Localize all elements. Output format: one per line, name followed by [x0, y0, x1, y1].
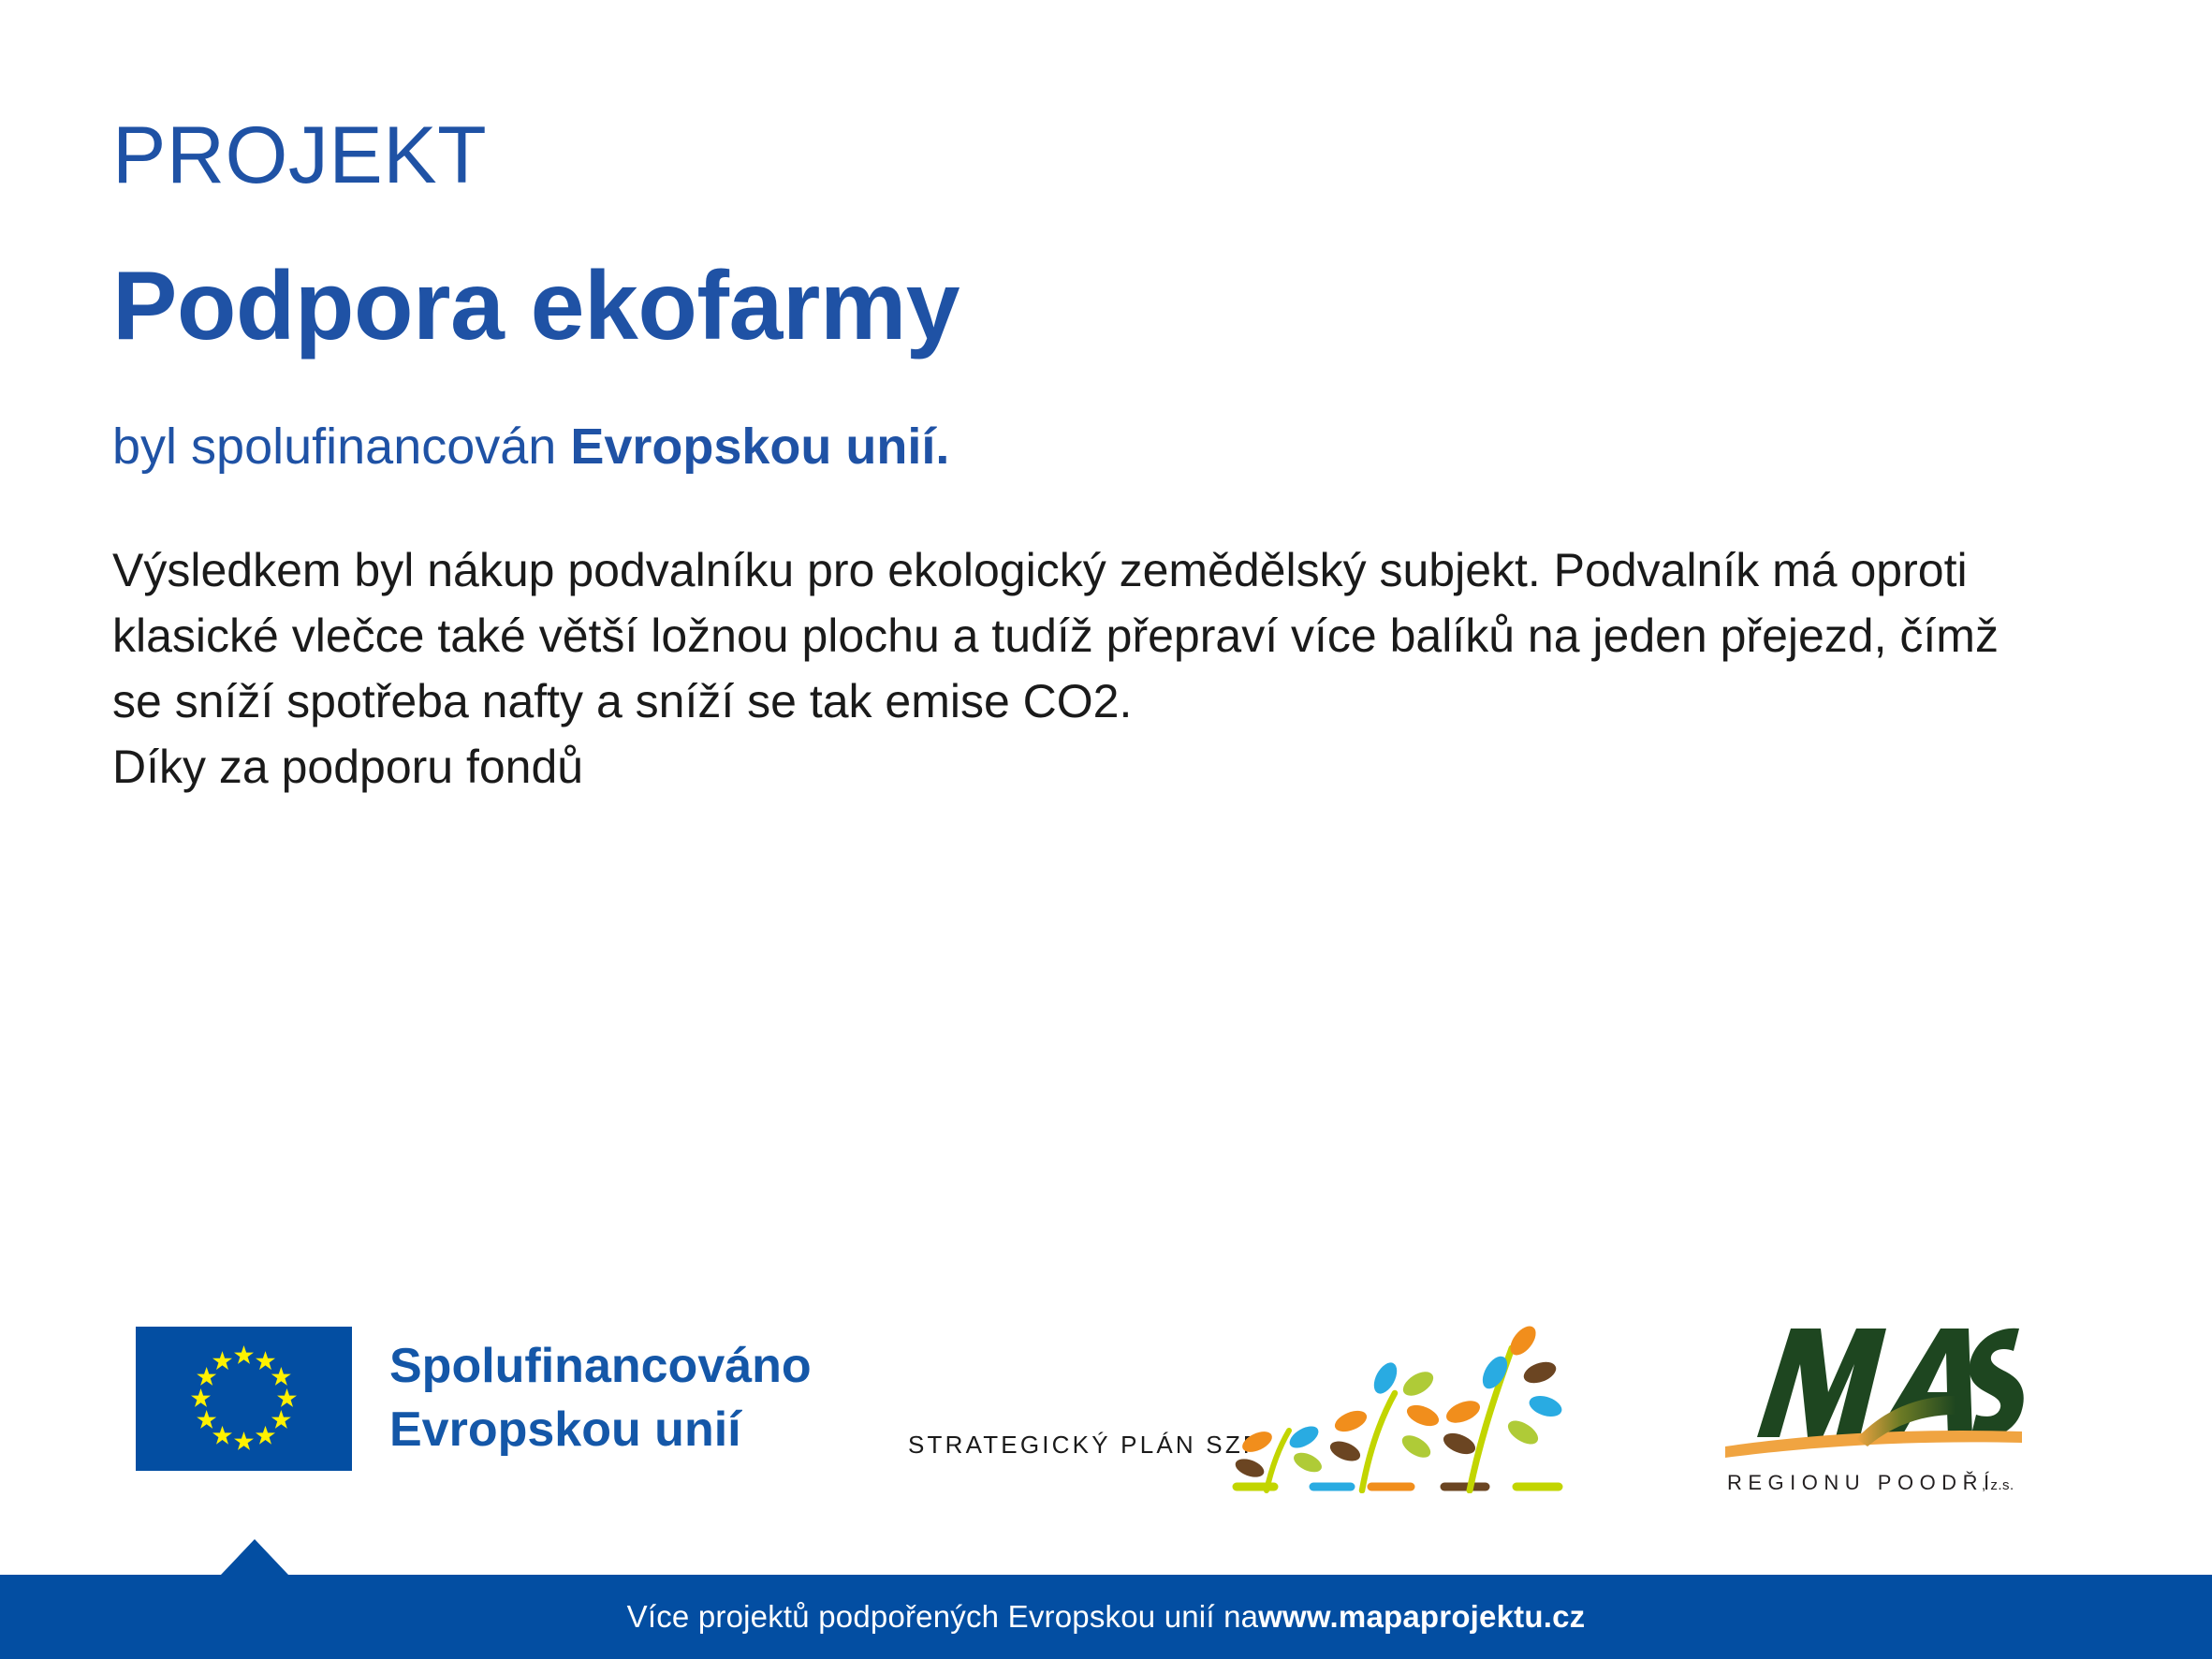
szp-label: STRATEGICKÝ PLÁN SZP	[908, 1431, 1262, 1460]
strategicky-plan-szp-logo: STRATEGICKÝ PLÁN SZP	[899, 1306, 1573, 1493]
szp-plants-icon	[1231, 1320, 1568, 1493]
eu-emblem-line-2: Evropskou unií	[389, 1399, 812, 1462]
mas-regionu-poodri-logo: REGIONU POODŘÍ , z.s.	[1718, 1306, 2027, 1498]
bottom-bar-prefix: Více projektů podpořených Evropskou unií…	[627, 1599, 1259, 1635]
poster-slide: PROJEKT Podpora ekofarmy byl spolufinanc…	[0, 0, 2212, 1659]
subtitle-strong: Evropskou unií.	[570, 418, 949, 475]
body-line-2: Díky za podporu fondů	[112, 734, 2050, 800]
bottom-bar-text: Více projektů podpořených Evropskou unií…	[0, 1575, 2212, 1659]
eu-emblem-text: Spolufinancováno Evropskou unií	[389, 1335, 812, 1461]
mas-tagline: REGIONU POODŘÍ	[1727, 1471, 1996, 1494]
body-line-1: Výsledkem byl nákup podvalníku pro ekolo…	[112, 544, 1999, 727]
bar-arrow-icon	[221, 1539, 288, 1575]
bottom-bar: Více projektů podpořených Evropskou unií…	[0, 1575, 2212, 1659]
main-content: PROJEKT Podpora ekofarmy byl spolufinanc…	[112, 112, 2087, 800]
eu-flag-icon	[136, 1327, 352, 1471]
logo-strip: Spolufinancováno Evropskou unií STRATEGI…	[0, 1306, 2212, 1503]
page-kicker: PROJEKT	[112, 112, 2087, 199]
eu-stars-icon	[136, 1327, 352, 1471]
page-title: Podpora ekofarmy	[112, 256, 2087, 358]
mas-suffix: , z.s.	[1982, 1477, 2014, 1493]
subtitle-prefix: byl spolufinancován	[112, 418, 570, 475]
subtitle: byl spolufinancován Evropskou unií.	[112, 416, 2087, 479]
body-paragraph: Výsledkem byl nákup podvalníku pro ekolo…	[112, 537, 2050, 800]
bottom-bar-url[interactable]: www.mapaprojektu.cz	[1258, 1599, 1585, 1635]
mas-logo-icon: REGIONU POODŘÍ , z.s.	[1718, 1306, 2027, 1498]
eu-emblem-line-1: Spolufinancováno	[389, 1335, 812, 1399]
eu-emblem: Spolufinancováno Evropskou unií	[136, 1327, 812, 1471]
